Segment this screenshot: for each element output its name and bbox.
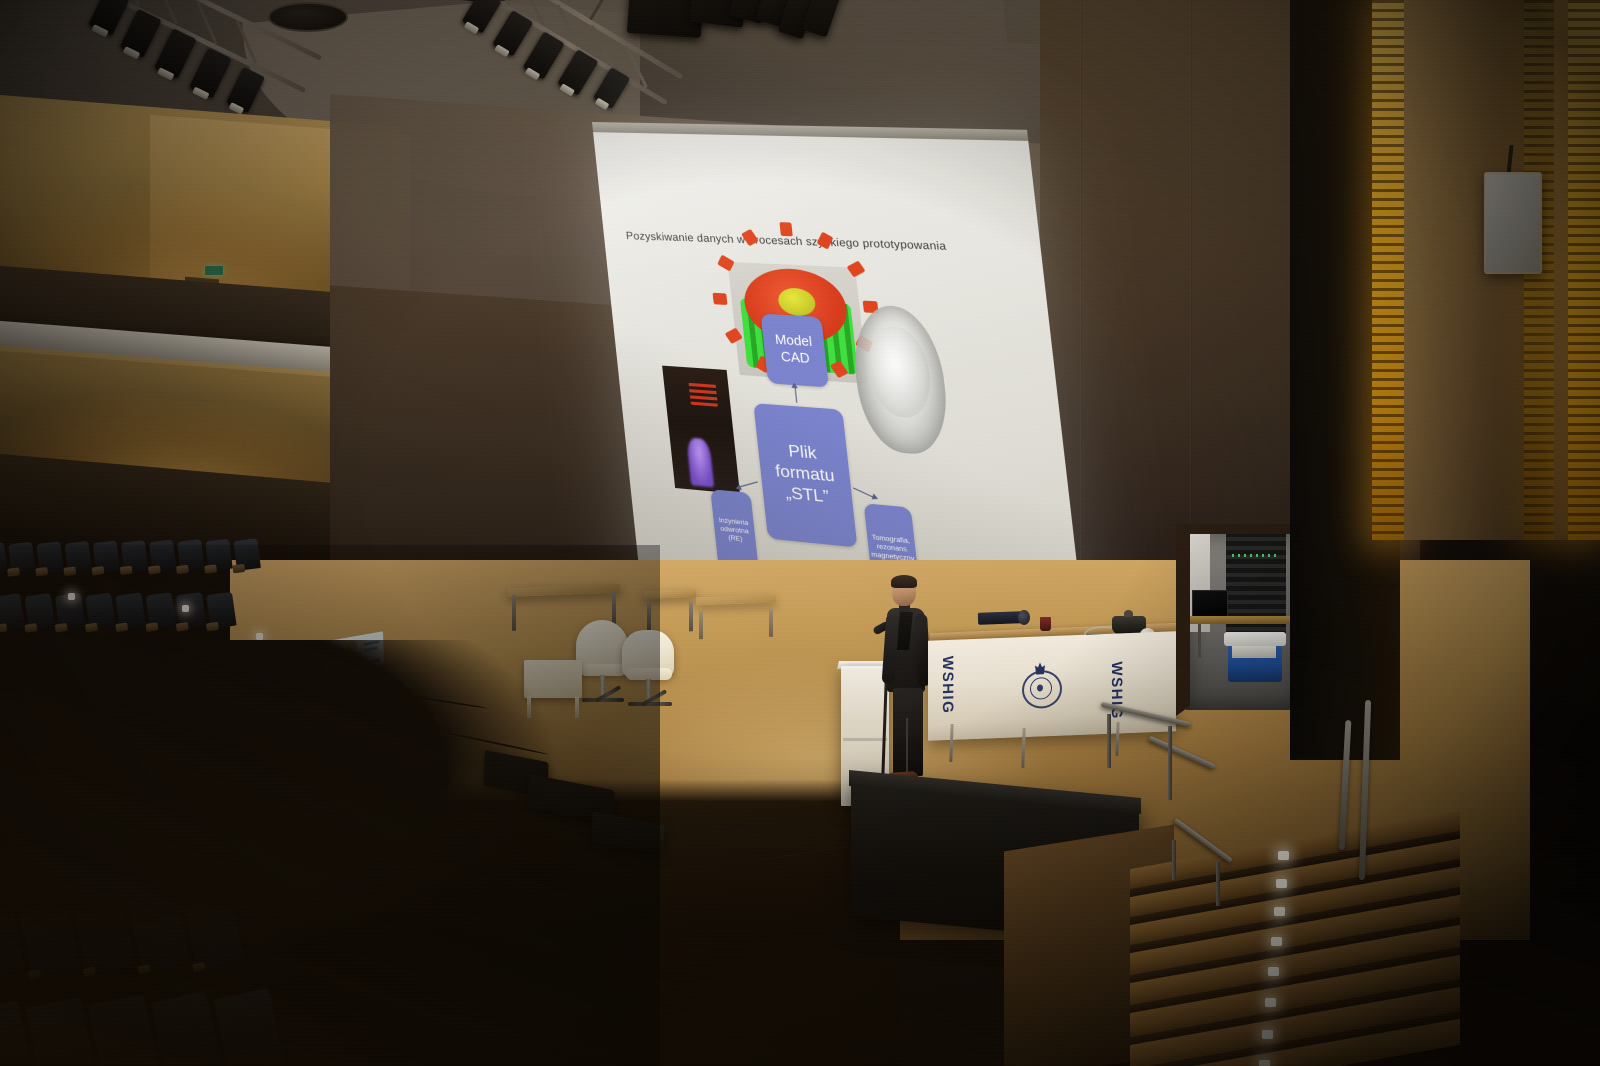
presenter-legs xyxy=(893,688,923,776)
lectern-shelf-line xyxy=(843,738,887,741)
slide-node-stl-file: Plik formatu „STL” xyxy=(753,403,857,547)
rack-status-leds xyxy=(1232,554,1276,557)
slide-node-model-cad: Model CAD xyxy=(761,314,829,388)
stage-light-icon xyxy=(226,67,265,113)
foreground-shadow xyxy=(0,640,700,1066)
stage-light-icon xyxy=(189,47,232,98)
step-light xyxy=(1271,937,1282,946)
wshig-banner: WSHIG WSHIG xyxy=(928,631,1176,741)
stage-light-icon xyxy=(120,9,162,58)
wall-mounted-speaker xyxy=(1484,172,1542,274)
presenter-hair xyxy=(891,575,917,588)
stage-light-icon xyxy=(88,0,129,36)
step-light xyxy=(1276,879,1287,888)
tube-cap xyxy=(1018,610,1030,625)
step-light xyxy=(1278,851,1289,860)
stage-light-icon xyxy=(462,0,502,34)
red-cup xyxy=(1040,617,1051,631)
stage-light-icon xyxy=(154,28,197,79)
printer-display-icon xyxy=(688,382,718,407)
equipment-rack xyxy=(1226,532,1286,642)
handrail-post xyxy=(1168,726,1172,800)
step-light xyxy=(1265,998,1276,1007)
printed-part-icon xyxy=(686,437,714,487)
arrow-icon xyxy=(853,487,877,499)
pot-lid-knob xyxy=(1124,610,1133,617)
arrow-icon xyxy=(794,384,798,403)
node-line: (RE) xyxy=(728,535,743,545)
cooler-lid xyxy=(1224,632,1286,646)
step-light xyxy=(1268,967,1279,976)
handrail-post xyxy=(1216,862,1220,906)
presenter-leg-split xyxy=(906,718,908,774)
handrail-post xyxy=(1172,840,1176,880)
backstage-monitor xyxy=(1192,590,1228,618)
node-line: Plik xyxy=(787,441,817,465)
step-light xyxy=(1262,1030,1273,1039)
auditorium-photo: Pozyskiwanie danych w procesach szybkieg… xyxy=(0,0,1600,1066)
3d-printer-photo xyxy=(662,366,740,494)
exit-sign xyxy=(205,266,223,275)
step-light xyxy=(1274,907,1285,916)
arrow-icon xyxy=(736,481,758,488)
backstage-doorway xyxy=(1186,532,1304,710)
banner-text-left: WSHIG xyxy=(939,656,956,715)
step-light xyxy=(1259,1060,1270,1066)
desk-leg xyxy=(1198,624,1201,658)
wshig-crest-icon xyxy=(1020,662,1060,710)
handrail-post xyxy=(1107,714,1111,768)
rolled-banner-tube xyxy=(978,611,1022,625)
node-line: „STL” xyxy=(784,483,830,508)
auditorium-stairs[interactable] xyxy=(1130,840,1460,1066)
node-line: CAD xyxy=(780,349,810,367)
ct-skull-scan-image xyxy=(848,304,953,457)
backstage-desk xyxy=(1186,616,1296,624)
cooler-interior xyxy=(1232,644,1276,658)
